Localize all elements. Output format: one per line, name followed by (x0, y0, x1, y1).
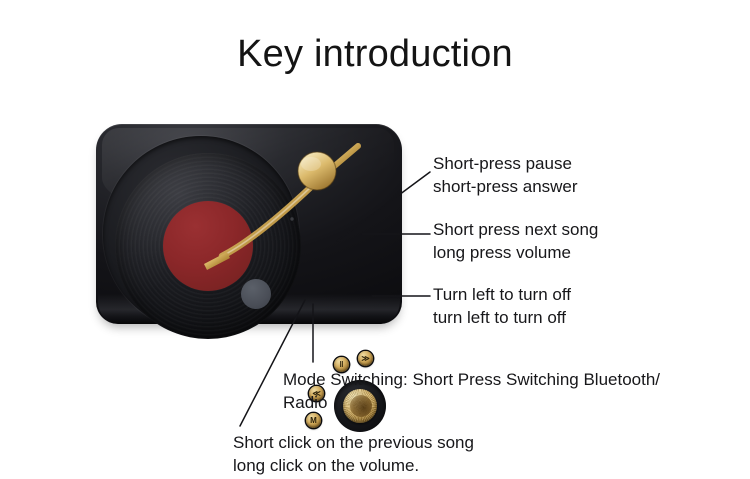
callout-previous-track: Short click on the previous song long cl… (233, 431, 553, 478)
record-spindle (241, 279, 271, 309)
callout-power-knob: Turn left to turn off turn left to turn … (433, 283, 648, 330)
key-introduction-infographic: Key introduction (0, 0, 750, 479)
callout-play-pause: Short-press pause short-press answer (433, 152, 648, 199)
callout-mode-switching: Mode Switching: Short Press Switching Bl… (283, 368, 745, 415)
callout-next-track: Short press next song long press volume (433, 218, 648, 265)
record-label (163, 201, 253, 291)
page-title: Key introduction (0, 34, 750, 76)
turntable-platter (103, 136, 299, 332)
vinyl-record (115, 153, 301, 339)
next-track-button[interactable]: ≫ (358, 351, 373, 366)
mode-switch-button[interactable]: M (306, 413, 321, 428)
device-illustration: ‖ ≫ ≪ M (96, 124, 402, 332)
